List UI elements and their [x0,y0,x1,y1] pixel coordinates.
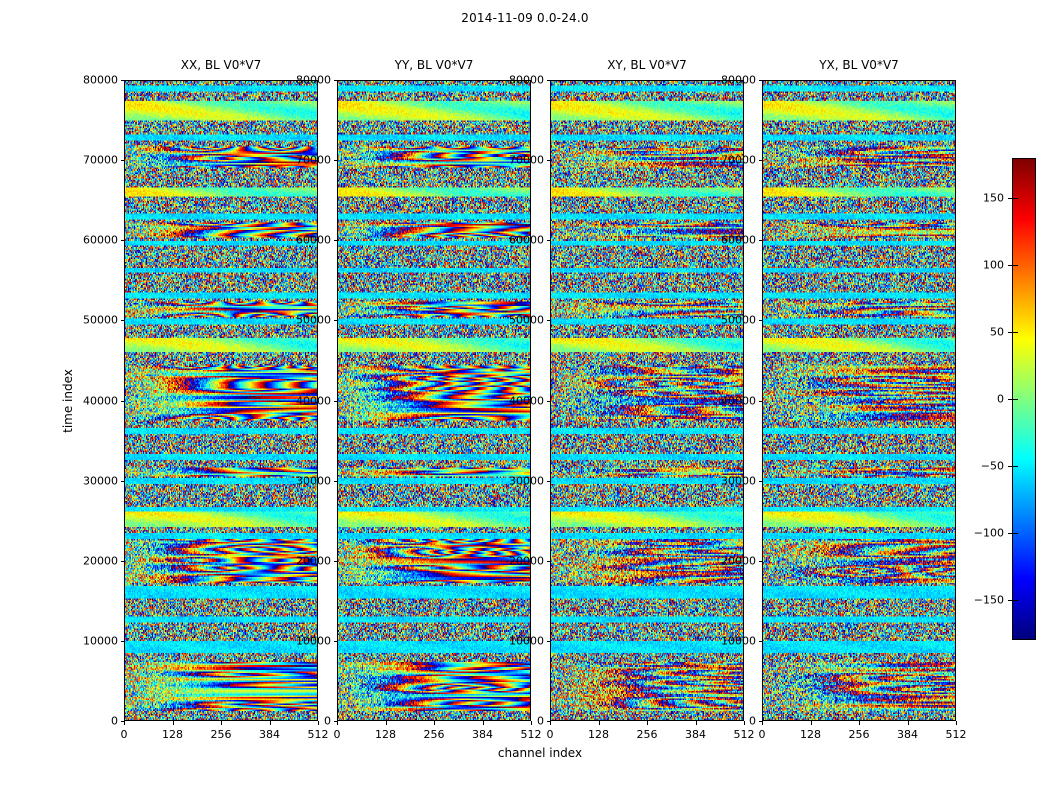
x-tick-mark [337,721,338,725]
y-tick-mark [759,80,763,81]
x-tick-mark [811,721,812,725]
x-tick-label: 0 [334,728,341,741]
x-tick-mark [386,721,387,725]
x-tick-mark [221,721,222,725]
x-tick-mark [550,721,551,725]
y-tick-label: 50000 [287,314,331,327]
colorbar-tick-mark-inner [1013,198,1018,199]
panel-title-xy: XY, BL V0*V7 [550,58,744,72]
y-tick-mark [334,160,338,161]
colorbar-tick-mark-inner [1013,265,1018,266]
y-tick-label: 40000 [712,394,756,407]
y-tick-label: 80000 [500,74,544,87]
x-tick-label: 128 [588,728,609,741]
x-tick-mark [270,721,271,725]
x-tick-label: 256 [849,728,870,741]
y-tick-label: 40000 [500,394,544,407]
colorbar-tick-label: 100 [960,259,1004,272]
y-tick-label: 40000 [74,394,118,407]
y-tick-label: 50000 [500,314,544,327]
y-axis-label: time index [61,369,75,433]
figure-canvas: 2014-11-09 0.0-24.0 XX, BL V0*V701000020… [0,0,1050,800]
y-tick-label: 70000 [287,154,331,167]
y-tick-label: 10000 [74,634,118,647]
y-tick-mark [334,641,338,642]
y-tick-label: 10000 [712,634,756,647]
x-tick-label: 512 [734,728,755,741]
y-tick-mark [547,561,551,562]
x-tick-mark [173,721,174,725]
y-tick-mark [547,160,551,161]
heatmap-image-yx [763,81,955,720]
colorbar-tick-mark [1008,533,1012,534]
y-tick-label: 70000 [500,154,544,167]
x-tick-mark [647,721,648,725]
y-tick-mark [334,561,338,562]
colorbar-tick-mark-inner [1013,600,1018,601]
y-tick-mark [121,481,125,482]
y-tick-label: 80000 [287,74,331,87]
x-axis-label: channel index [498,746,582,760]
y-tick-mark [547,80,551,81]
y-tick-label: 50000 [712,314,756,327]
colorbar-tick-mark [1008,399,1012,400]
colorbar-tick-mark-inner [1013,399,1018,400]
y-tick-mark [334,80,338,81]
colorbar-tick-mark-inner [1013,466,1018,467]
y-tick-mark [759,641,763,642]
colorbar-tick-mark [1008,265,1012,266]
x-tick-mark [908,721,909,725]
colorbar-tick-mark [1008,332,1012,333]
x-tick-mark [124,721,125,725]
figure-suptitle: 2014-11-09 0.0-24.0 [0,11,1050,25]
x-tick-label: 128 [162,728,183,741]
x-tick-label: 128 [800,728,821,741]
y-tick-label: 0 [287,715,331,728]
y-tick-label: 10000 [287,634,331,647]
y-tick-mark [759,240,763,241]
x-tick-label: 256 [637,728,658,741]
y-tick-mark [121,401,125,402]
y-tick-label: 40000 [287,394,331,407]
y-tick-label: 60000 [500,234,544,247]
y-tick-mark [759,401,763,402]
y-tick-mark [547,240,551,241]
y-tick-mark [759,561,763,562]
colorbar-tick-label: 0 [960,393,1004,406]
y-tick-mark [334,401,338,402]
colorbar-tick-label: 50 [960,326,1004,339]
y-tick-mark [121,561,125,562]
colorbar-tick-mark [1008,600,1012,601]
x-tick-label: 256 [211,728,232,741]
x-tick-label: 512 [521,728,542,741]
y-tick-label: 80000 [712,74,756,87]
panel-title-yy: YY, BL V0*V7 [337,58,531,72]
y-tick-label: 20000 [712,554,756,567]
y-tick-mark [121,80,125,81]
y-tick-mark [121,320,125,321]
x-tick-mark [956,721,957,725]
y-tick-label: 10000 [500,634,544,647]
x-tick-label: 384 [685,728,706,741]
y-tick-label: 60000 [287,234,331,247]
y-tick-label: 70000 [712,154,756,167]
y-tick-mark [334,240,338,241]
y-tick-label: 60000 [74,234,118,247]
x-tick-mark [859,721,860,725]
x-tick-mark [696,721,697,725]
x-tick-label: 0 [547,728,554,741]
colorbar-tick-mark [1008,198,1012,199]
y-tick-mark [547,481,551,482]
x-tick-mark [762,721,763,725]
y-tick-mark [121,641,125,642]
y-tick-label: 20000 [500,554,544,567]
y-tick-mark [121,240,125,241]
panel-title-xx: XX, BL V0*V7 [124,58,318,72]
y-tick-label: 0 [500,715,544,728]
heatmap-panel-yx [762,80,956,721]
y-tick-label: 20000 [74,554,118,567]
y-tick-label: 0 [712,715,756,728]
y-tick-label: 30000 [74,474,118,487]
y-tick-mark [121,160,125,161]
y-tick-mark [547,320,551,321]
x-tick-label: 384 [472,728,493,741]
x-tick-label: 0 [121,728,128,741]
y-tick-label: 30000 [500,474,544,487]
y-tick-mark [759,481,763,482]
y-tick-label: 60000 [712,234,756,247]
x-tick-mark [434,721,435,725]
y-tick-mark [759,320,763,321]
colorbar-tick-mark-inner [1013,533,1018,534]
x-tick-label: 0 [759,728,766,741]
x-tick-label: 128 [375,728,396,741]
x-tick-label: 384 [897,728,918,741]
x-tick-mark [599,721,600,725]
x-tick-label: 256 [424,728,445,741]
y-tick-mark [334,481,338,482]
y-tick-label: 30000 [712,474,756,487]
colorbar-tick-label: 150 [960,192,1004,205]
x-tick-mark [483,721,484,725]
y-tick-label: 0 [74,715,118,728]
colorbar-tick-label: −50 [960,459,1004,472]
y-tick-label: 50000 [74,314,118,327]
y-tick-mark [759,160,763,161]
y-tick-label: 80000 [74,74,118,87]
y-tick-label: 20000 [287,554,331,567]
panel-title-yx: YX, BL V0*V7 [762,58,956,72]
y-tick-mark [547,401,551,402]
y-tick-label: 70000 [74,154,118,167]
colorbar-tick-mark [1008,466,1012,467]
y-tick-mark [547,641,551,642]
colorbar-tick-label: −100 [960,526,1004,539]
y-tick-label: 30000 [287,474,331,487]
y-tick-mark [334,320,338,321]
x-tick-label: 384 [259,728,280,741]
x-tick-label: 512 [946,728,967,741]
colorbar-tick-mark-inner [1013,332,1018,333]
colorbar-tick-label: −150 [960,593,1004,606]
x-tick-label: 512 [308,728,329,741]
